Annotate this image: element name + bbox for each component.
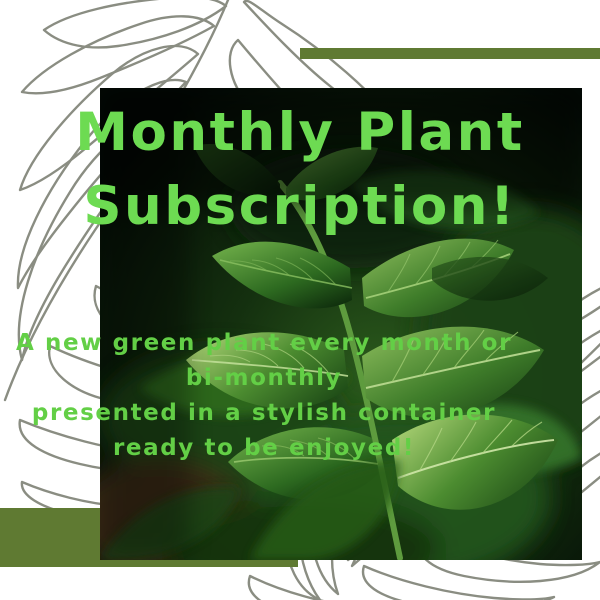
page-title: Monthly Plant Subscription! [60,96,540,244]
body-line-2: bi-monthly [0,361,528,396]
headline-line-1: Monthly Plant [60,96,540,170]
body-line-1: A new green plant every month or [0,326,528,361]
poster-canvas: Monthly Plant Subscription! A new green … [0,0,600,600]
body-line-4: ready to be enjoyed! [0,431,528,466]
headline-line-2: Subscription! [60,170,540,244]
body-line-3: presented in a stylish container [0,396,528,431]
body-copy: A new green plant every month or bi-mont… [0,326,528,466]
accent-bar-top [300,48,600,59]
